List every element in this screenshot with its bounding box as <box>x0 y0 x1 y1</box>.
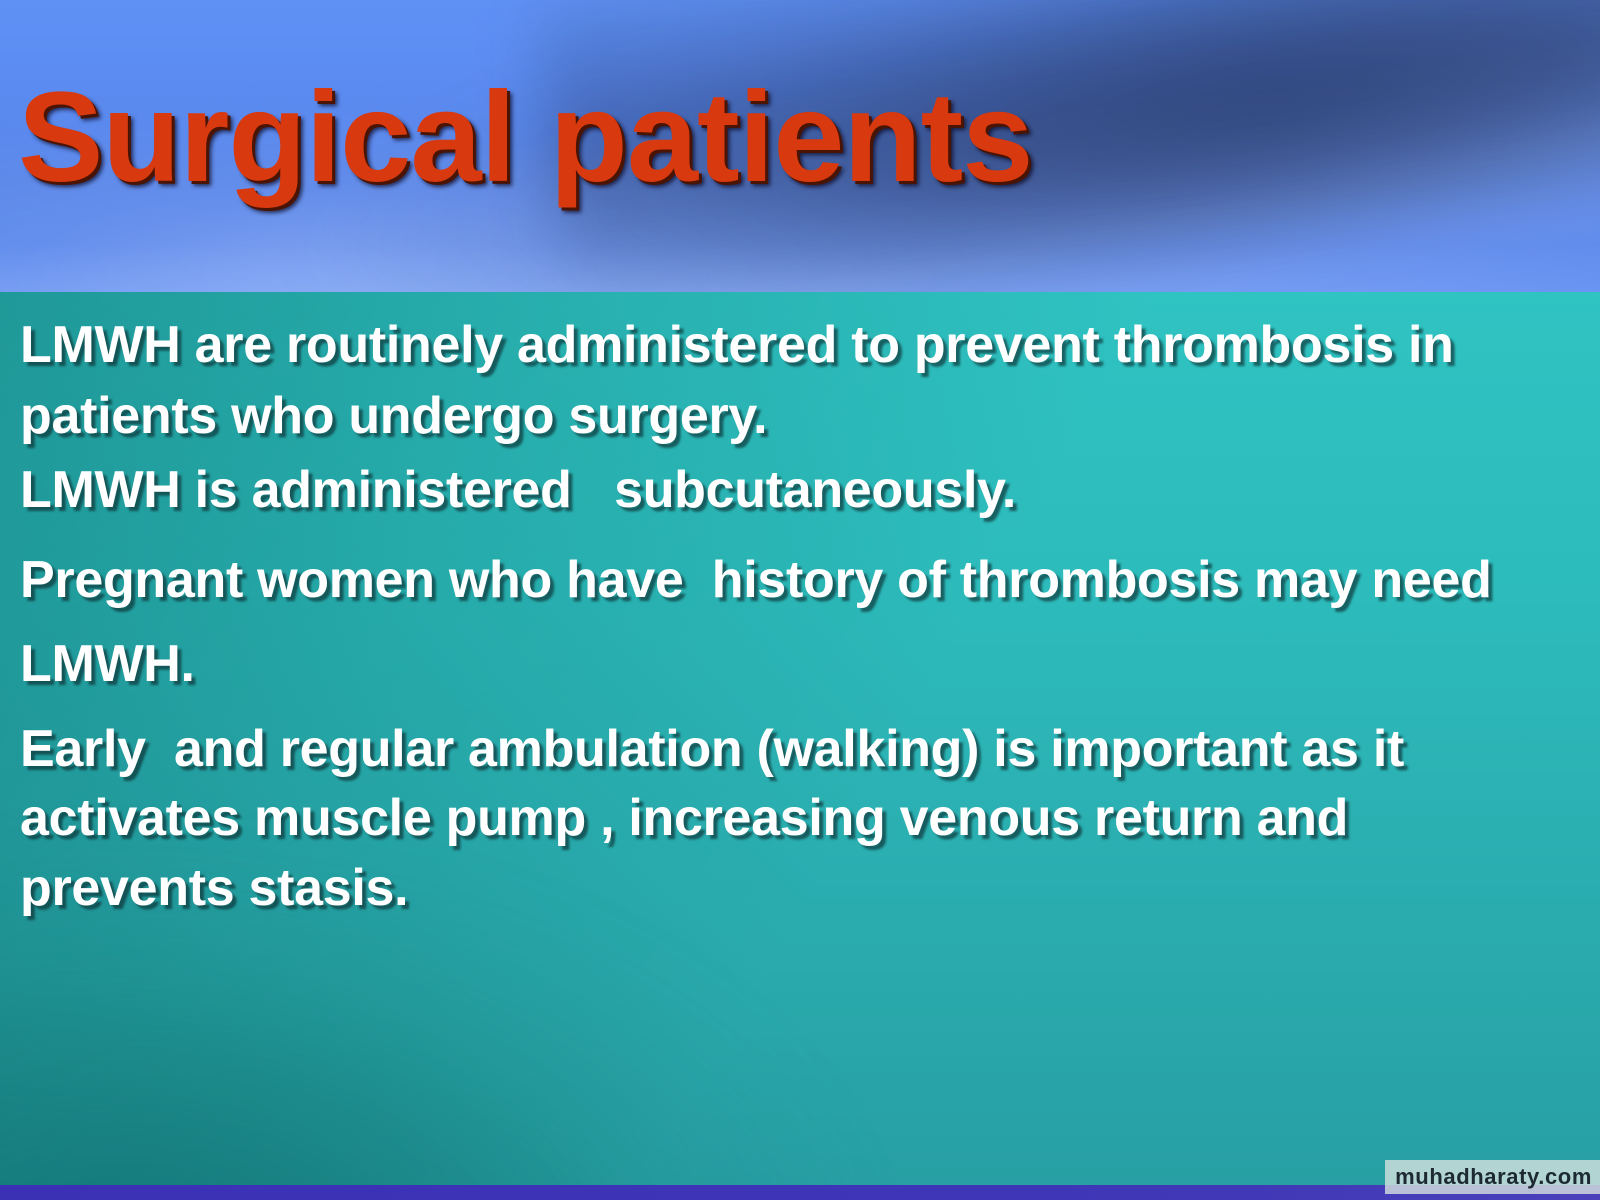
watermark-muhadharaty: muhadharaty.com <box>1385 1160 1600 1194</box>
footer-bar <box>0 1185 1600 1200</box>
slide-header: Surgical patients <box>0 0 1600 292</box>
slide-body: LMWH are routinely administered to preve… <box>0 292 1600 1185</box>
page-title: Surgical patients <box>18 74 1032 202</box>
body-paragraph-4: Early and regular ambulation (walking) i… <box>20 715 1576 924</box>
body-content: LMWH are routinely administered to preve… <box>0 292 1600 924</box>
body-paragraph-2: LMWH is administered subcutaneously. <box>20 455 1576 526</box>
body-paragraph-3: Pregnant women who have history of throm… <box>20 538 1576 706</box>
slide: Surgical patients LMWH are routinely adm… <box>0 0 1600 1200</box>
body-paragraph-1: LMWH are routinely administered to preve… <box>20 310 1576 451</box>
